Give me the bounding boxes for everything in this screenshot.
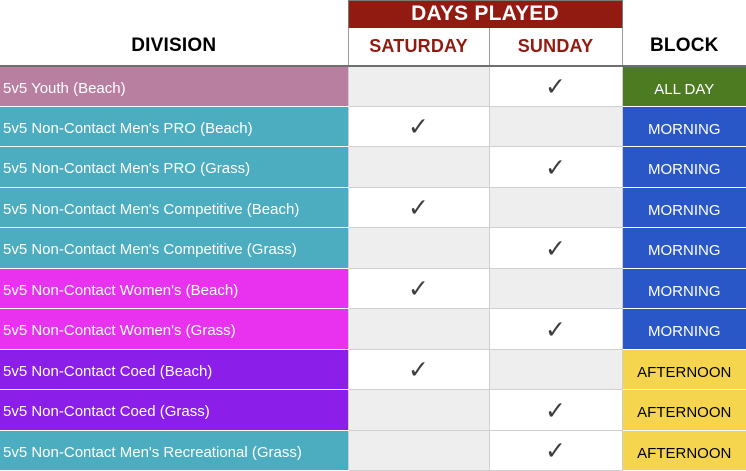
table-row: 5v5 Non-Contact Men's Competitive (Grass… [0, 228, 746, 269]
block-cell[interactable]: MORNING [622, 228, 746, 269]
column-header-sunday[interactable]: SUNDAY [489, 28, 622, 66]
table-row: 5v5 Non-Contact Men's Recreational (Gras… [0, 430, 746, 471]
sunday-cell[interactable]: ✓ [489, 66, 622, 107]
block-cell[interactable]: MORNING [622, 106, 746, 147]
checkmark-icon: ✓ [545, 74, 566, 99]
division-name-cell[interactable]: 5v5 Non-Contact Women's (Grass) [0, 309, 348, 350]
checkmark-icon: ✓ [408, 114, 429, 139]
saturday-cell[interactable]: ✓ [348, 106, 489, 147]
checkmark-icon: ✓ [408, 357, 429, 382]
table-row: 5v5 Non-Contact Women's (Beach)✓MORNING [0, 268, 746, 309]
sunday-cell[interactable]: ✓ [489, 147, 622, 188]
header-row-main: DIVISION SATURDAY SUNDAY BLOCK [0, 28, 746, 66]
block-cell[interactable]: AFTERNOON [622, 430, 746, 471]
block-cell[interactable]: MORNING [622, 309, 746, 350]
table-row: 5v5 Non-Contact Men's Competitive (Beach… [0, 187, 746, 228]
saturday-cell[interactable] [348, 66, 489, 107]
sunday-cell[interactable] [489, 187, 622, 228]
division-name-cell[interactable]: 5v5 Youth (Beach) [0, 66, 348, 107]
header-spacer-division [0, 1, 348, 28]
saturday-cell[interactable] [348, 147, 489, 188]
division-name-cell[interactable]: 5v5 Non-Contact Coed (Grass) [0, 390, 348, 431]
block-cell[interactable]: MORNING [622, 147, 746, 188]
block-cell[interactable]: AFTERNOON [622, 390, 746, 431]
table-row: 5v5 Non-Contact Coed (Grass)✓AFTERNOON [0, 390, 746, 431]
division-name-cell[interactable]: 5v5 Non-Contact Men's Competitive (Grass… [0, 228, 348, 269]
schedule-table-viewport: DAYS PLAYED DIVISION SATURDAY SUNDAY BLO… [0, 0, 746, 471]
checkmark-icon: ✓ [545, 155, 566, 180]
checkmark-icon: ✓ [545, 317, 566, 342]
divisions-schedule-table: DAYS PLAYED DIVISION SATURDAY SUNDAY BLO… [0, 0, 746, 471]
column-header-division[interactable]: DIVISION [0, 28, 348, 66]
division-name-cell[interactable]: 5v5 Non-Contact Coed (Beach) [0, 349, 348, 390]
division-name-cell[interactable]: 5v5 Non-Contact Men's PRO (Grass) [0, 147, 348, 188]
table-row: 5v5 Non-Contact Women's (Grass)✓MORNING [0, 309, 746, 350]
block-cell[interactable]: ALL DAY [622, 66, 746, 107]
column-header-block[interactable]: BLOCK [622, 28, 746, 66]
block-cell[interactable]: MORNING [622, 187, 746, 228]
sunday-cell[interactable] [489, 106, 622, 147]
block-cell[interactable]: AFTERNOON [622, 349, 746, 390]
table-body: 5v5 Youth (Beach)✓ALL DAY5v5 Non-Contact… [0, 66, 746, 471]
table-header: DAYS PLAYED DIVISION SATURDAY SUNDAY BLO… [0, 1, 746, 66]
checkmark-icon: ✓ [545, 438, 566, 463]
sunday-cell[interactable]: ✓ [489, 309, 622, 350]
division-name-cell[interactable]: 5v5 Non-Contact Men's Recreational (Gras… [0, 430, 348, 471]
saturday-cell[interactable] [348, 430, 489, 471]
sunday-cell[interactable]: ✓ [489, 430, 622, 471]
header-row-top: DAYS PLAYED [0, 1, 746, 28]
division-name-cell[interactable]: 5v5 Non-Contact Women's (Beach) [0, 268, 348, 309]
table-row: 5v5 Non-Contact Men's PRO (Grass)✓MORNIN… [0, 147, 746, 188]
checkmark-icon: ✓ [545, 236, 566, 261]
checkmark-icon: ✓ [408, 276, 429, 301]
table-row: 5v5 Non-Contact Men's PRO (Beach)✓MORNIN… [0, 106, 746, 147]
saturday-cell[interactable] [348, 228, 489, 269]
sunday-cell[interactable]: ✓ [489, 390, 622, 431]
saturday-cell[interactable]: ✓ [348, 349, 489, 390]
saturday-cell[interactable]: ✓ [348, 187, 489, 228]
division-name-cell[interactable]: 5v5 Non-Contact Men's Competitive (Beach… [0, 187, 348, 228]
checkmark-icon: ✓ [408, 195, 429, 220]
sunday-cell[interactable] [489, 349, 622, 390]
table-row: 5v5 Non-Contact Coed (Beach)✓AFTERNOON [0, 349, 746, 390]
table-row: 5v5 Youth (Beach)✓ALL DAY [0, 66, 746, 107]
block-cell[interactable]: MORNING [622, 268, 746, 309]
division-name-cell[interactable]: 5v5 Non-Contact Men's PRO (Beach) [0, 106, 348, 147]
days-played-group-header: DAYS PLAYED [348, 1, 622, 28]
saturday-cell[interactable]: ✓ [348, 268, 489, 309]
header-spacer-block [622, 1, 746, 28]
column-header-saturday[interactable]: SATURDAY [348, 28, 489, 66]
saturday-cell[interactable] [348, 390, 489, 431]
checkmark-icon: ✓ [545, 398, 566, 423]
sunday-cell[interactable]: ✓ [489, 228, 622, 269]
saturday-cell[interactable] [348, 309, 489, 350]
sunday-cell[interactable] [489, 268, 622, 309]
